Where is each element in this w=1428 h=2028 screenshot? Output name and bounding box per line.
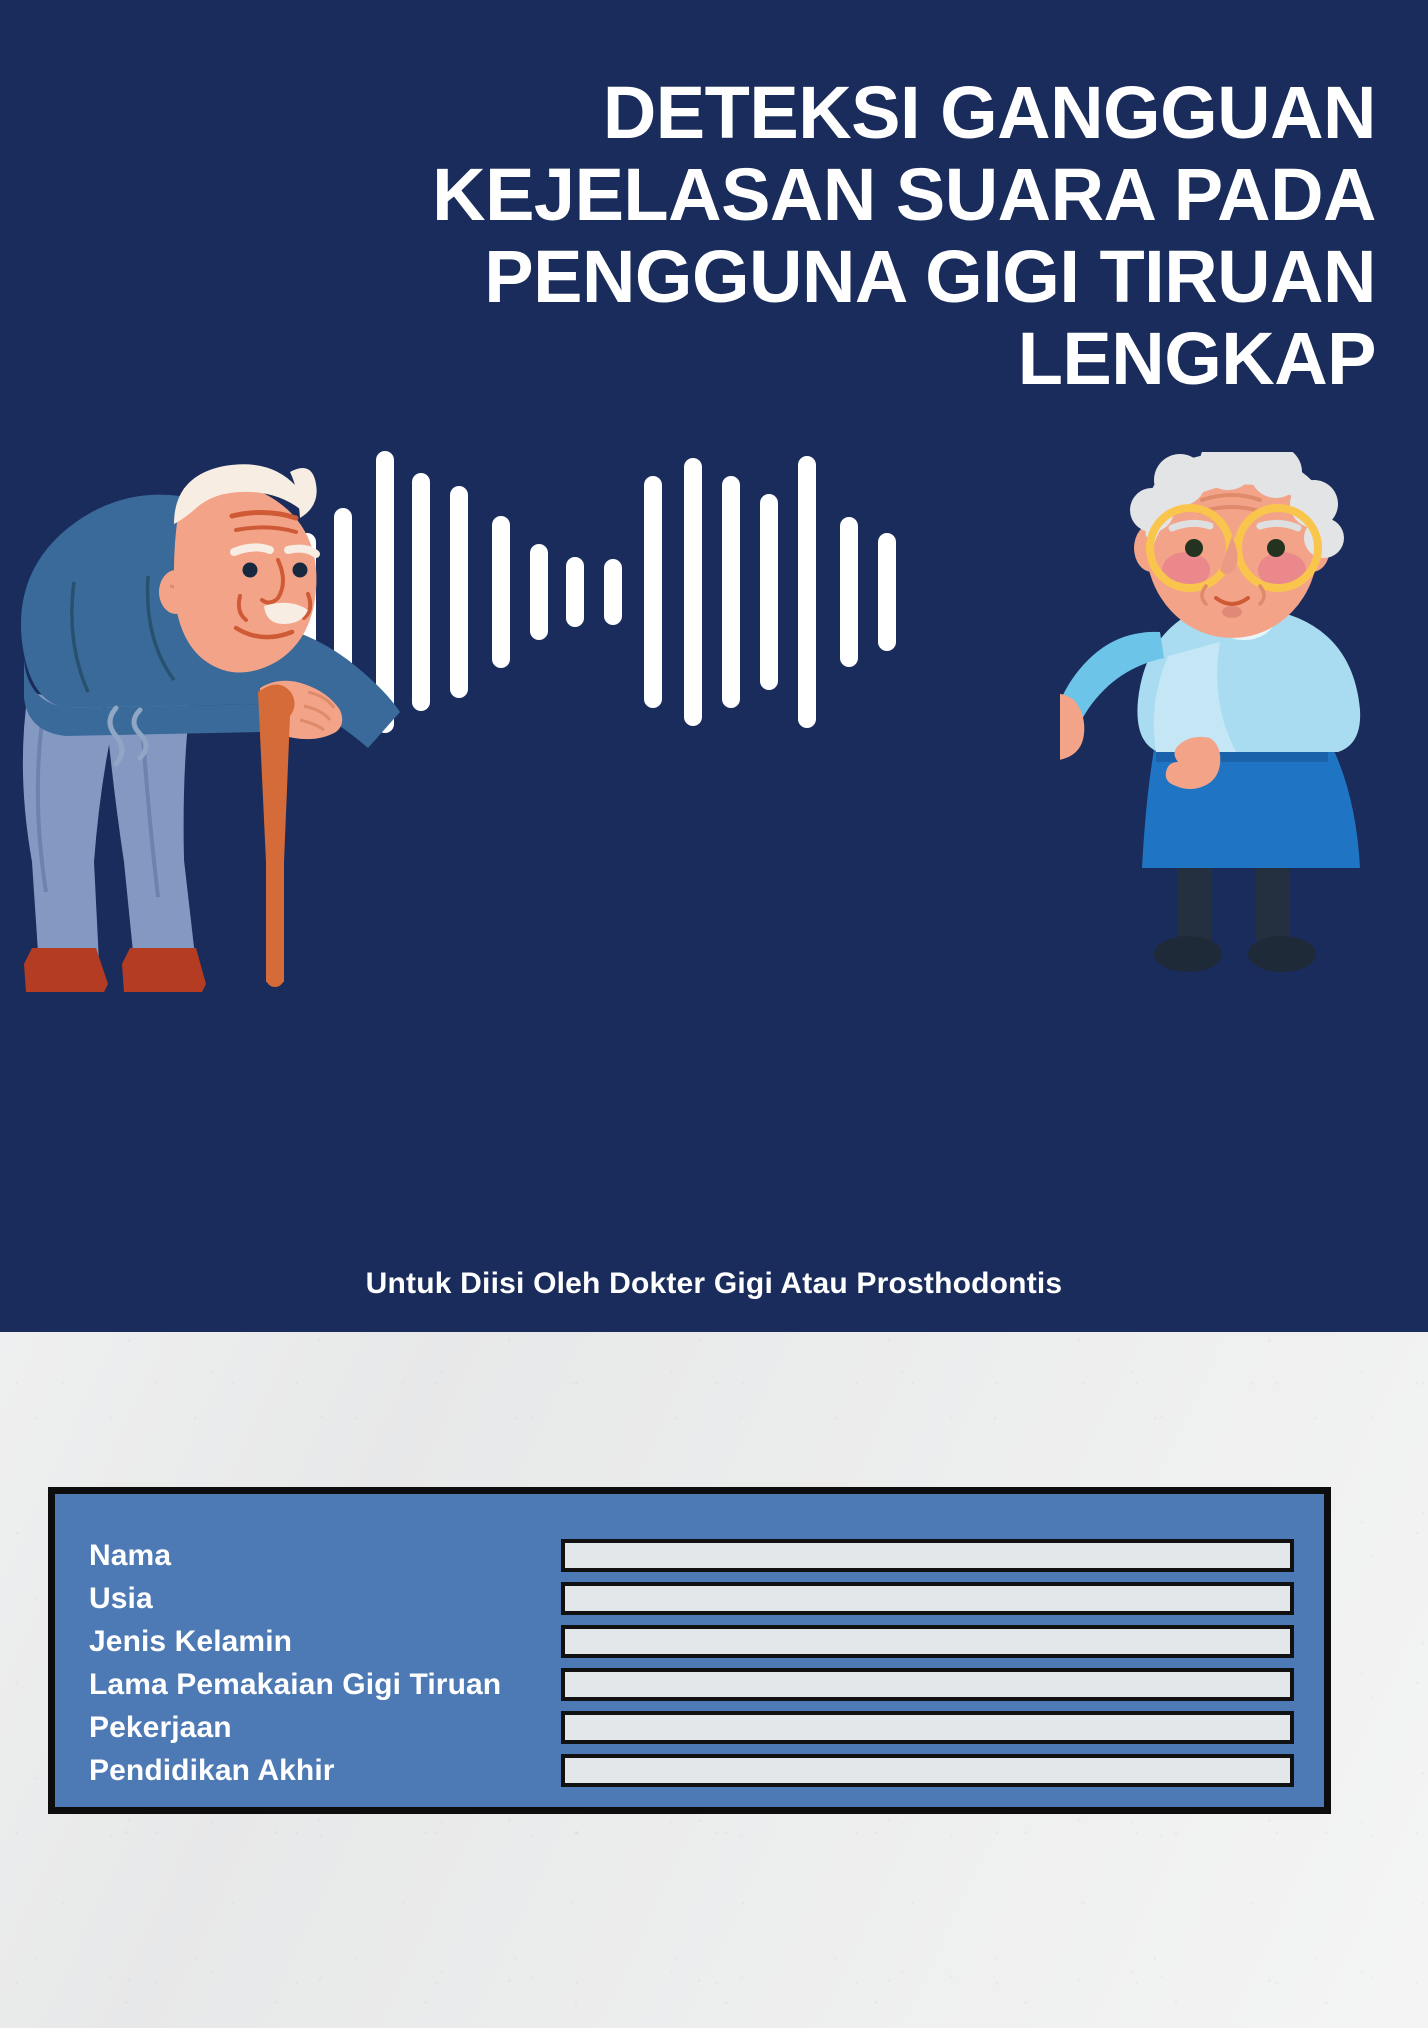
elderly-woman-illustration: [1060, 452, 1428, 992]
waveform-bar: [566, 557, 584, 627]
form-label-jenis-kelamin: Jenis Kelamin: [89, 1625, 561, 1659]
form-row: Jenis Kelamin: [89, 1620, 1300, 1663]
form-label-lama-pemakaian-gigi-tiruan: Lama Pemakaian Gigi Tiruan: [89, 1668, 561, 1702]
form-row: Pekerjaan: [89, 1706, 1300, 1749]
hero-banner: DETEKSI GANGGUAN KEJELASAN SUARA PADA PE…: [0, 0, 1428, 1332]
elderly-man-illustration: [8, 392, 408, 992]
form-rows-container: NamaUsiaJenis KelaminLama Pemakaian Gigi…: [55, 1494, 1324, 1807]
form-label-nama: Nama: [89, 1539, 561, 1573]
poster-page: DETEKSI GANGGUAN KEJELASAN SUARA PADA PE…: [0, 0, 1428, 2028]
form-label-usia: Usia: [89, 1582, 561, 1616]
title-line-4: LENGKAP: [0, 318, 1376, 400]
form-input-jenis-kelamin[interactable]: [561, 1625, 1294, 1658]
patient-info-form-panel: NamaUsiaJenis KelaminLama Pemakaian Gigi…: [48, 1487, 1331, 1814]
form-row: Nama: [89, 1534, 1300, 1577]
title-line-2: KEJELASAN SUARA PADA: [0, 154, 1376, 236]
waveform-bar: [760, 494, 778, 690]
waveform-bar: [840, 517, 858, 667]
waveform-bar: [684, 458, 702, 726]
waveform-bar: [492, 516, 510, 668]
form-label-pekerjaan: Pekerjaan: [89, 1711, 561, 1745]
form-row: Lama Pemakaian Gigi Tiruan: [89, 1663, 1300, 1706]
waveform-bar: [722, 476, 740, 708]
title-line-1: DETEKSI GANGGUAN: [0, 72, 1376, 154]
waveform-bar: [604, 559, 622, 625]
form-input-nama[interactable]: [561, 1539, 1294, 1572]
waveform-bar: [530, 544, 548, 640]
waveform-bar: [798, 456, 816, 728]
form-label-pendidikan-akhir: Pendidikan Akhir: [89, 1754, 561, 1788]
form-input-pekerjaan[interactable]: [561, 1711, 1294, 1744]
form-input-usia[interactable]: [561, 1582, 1294, 1615]
waveform-bar: [450, 486, 468, 698]
waveform-bar: [878, 533, 896, 651]
form-input-pendidikan-akhir[interactable]: [561, 1754, 1294, 1787]
title-line-3: PENGGUNA GIGI TIRUAN: [0, 236, 1376, 318]
poster-title: DETEKSI GANGGUAN KEJELASAN SUARA PADA PE…: [0, 72, 1428, 400]
waveform-bar: [644, 476, 662, 708]
form-row: Usia: [89, 1577, 1300, 1620]
form-input-lama-pemakaian-gigi-tiruan[interactable]: [561, 1668, 1294, 1701]
form-row: Pendidikan Akhir: [89, 1749, 1300, 1792]
poster-subtitle: Untuk Diisi Oleh Dokter Gigi Atau Prosth…: [0, 1267, 1428, 1301]
waveform-bar: [412, 473, 430, 711]
